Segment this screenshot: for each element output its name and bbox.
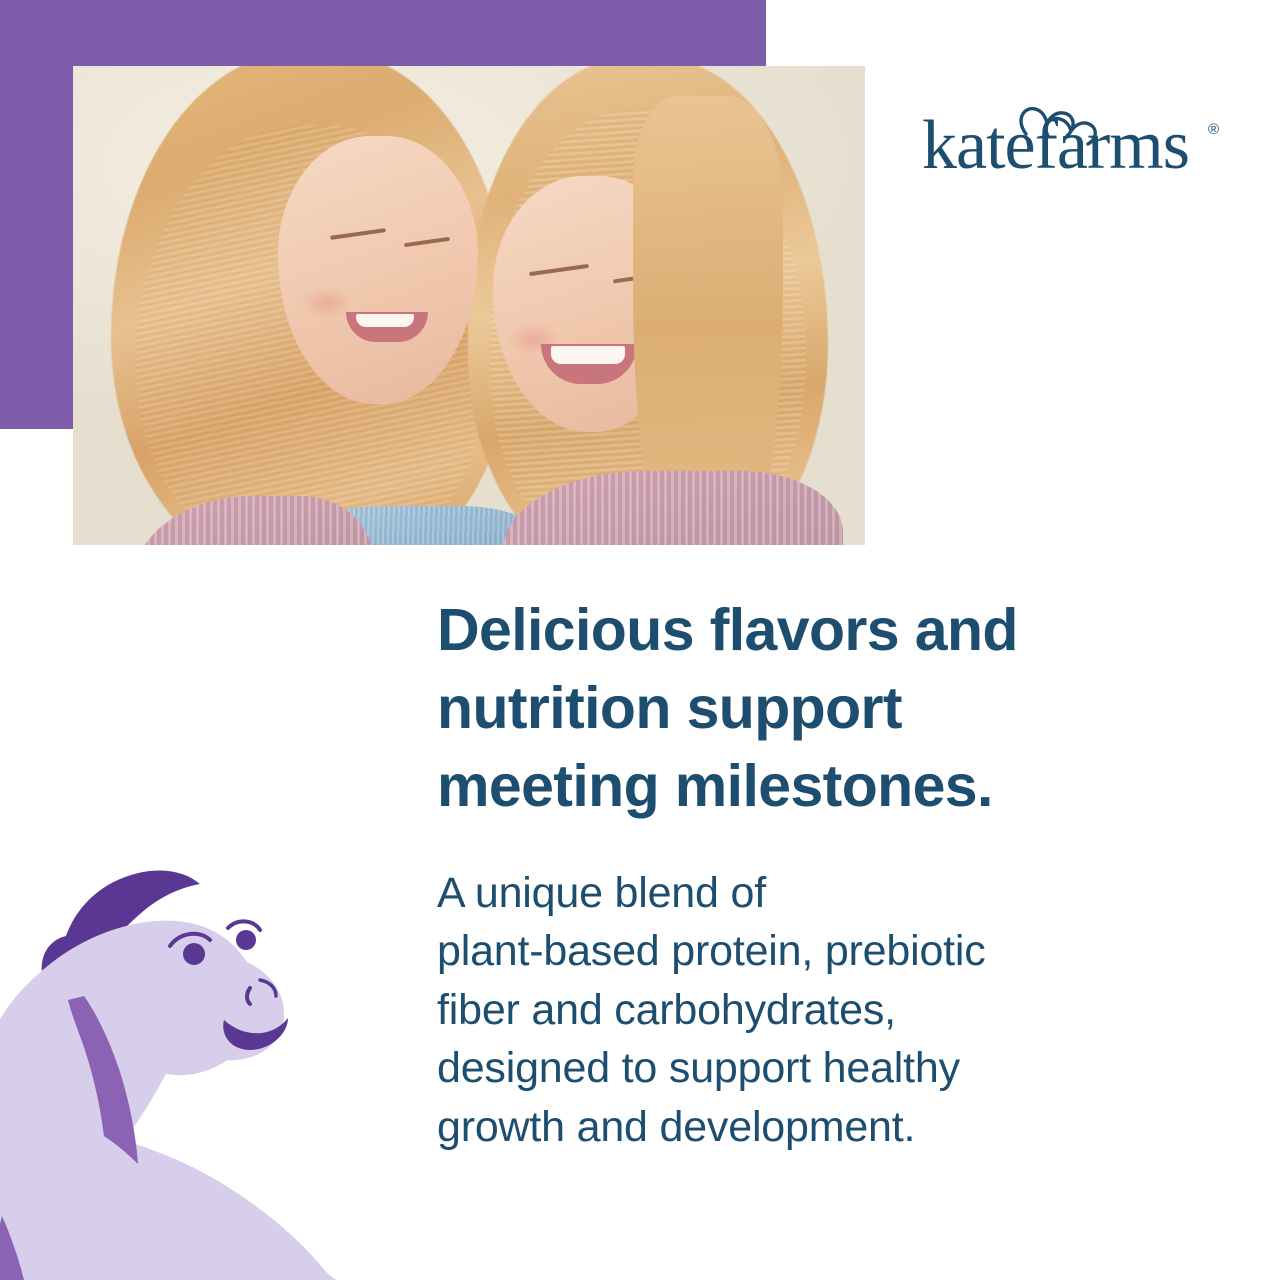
- body-line-5: growth and development.: [437, 1098, 1185, 1156]
- advertisement-canvas: katefarms ® Delicious flavors and nutrit…: [0, 0, 1280, 1280]
- headline-line-2: nutrition support: [437, 670, 1177, 748]
- katefarms-logo: katefarms ®: [922, 98, 1232, 182]
- body-line-2: plant-based protein, prebiotic: [437, 922, 1185, 980]
- woman-teeth: [356, 314, 414, 327]
- woman-eye: [330, 228, 386, 240]
- mascot-body: [0, 921, 348, 1280]
- body-line-3: fiber and carbohydrates,: [437, 981, 1185, 1039]
- logo-trademark: ®: [1208, 121, 1219, 138]
- body-line-4: designed to support healthy: [437, 1039, 1185, 1097]
- headline-line-1: Delicious flavors and: [437, 592, 1177, 670]
- headline-line-3: meeting milestones.: [437, 748, 1177, 826]
- mascot-eye-right: [236, 930, 256, 950]
- page-title: Delicious flavors and nutrition support …: [437, 592, 1177, 826]
- mascot-eyebrow-right: [228, 921, 260, 930]
- purple-dinosaur-mascot: [0, 828, 408, 1280]
- girl-teeth: [551, 346, 625, 364]
- body-copy: A unique blend of plant-based protein, p…: [437, 864, 1185, 1156]
- body-line-1: A unique blend of: [437, 864, 1185, 922]
- logo-wordmark: katefarms: [922, 107, 1189, 182]
- mascot-eye-left: [183, 943, 205, 965]
- woman-eye-right: [404, 237, 450, 247]
- hero-photo: [73, 66, 865, 545]
- girl-eye: [529, 264, 589, 276]
